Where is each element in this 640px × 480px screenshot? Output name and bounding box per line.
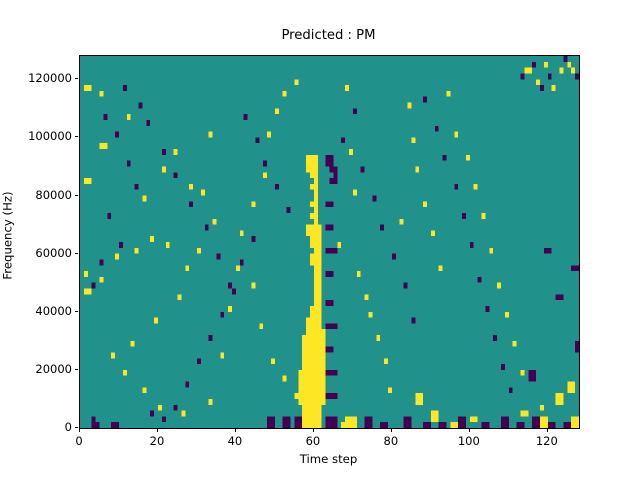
- heatmap-plot-area[interactable]: [79, 55, 580, 429]
- y-tick-label: 40000: [35, 304, 72, 318]
- x-tick-mark: [547, 428, 548, 432]
- page-title: Predicted : PM: [79, 28, 578, 44]
- y-tick-mark: [75, 253, 79, 254]
- x-tick-label: 100: [458, 434, 480, 448]
- y-tick-label: 0: [65, 420, 72, 434]
- y-tick-label: 20000: [35, 362, 72, 376]
- y-tick-label: 100000: [28, 129, 72, 143]
- x-tick-mark: [79, 428, 80, 432]
- heatmap-image: [80, 56, 579, 428]
- x-tick-label: 80: [384, 434, 399, 448]
- x-tick-label: 0: [75, 434, 82, 448]
- x-tick-mark: [235, 428, 236, 432]
- x-tick-label: 60: [306, 434, 321, 448]
- figure-canvas: Predicted : PM 020406080100120 020000400…: [0, 0, 640, 480]
- y-tick-mark: [75, 78, 79, 79]
- x-tick-label: 120: [536, 434, 558, 448]
- x-tick-label: 20: [150, 434, 165, 448]
- y-tick-mark: [75, 369, 79, 370]
- x-tick-mark: [157, 428, 158, 432]
- y-axis-label: Frequency (Hz): [1, 50, 16, 422]
- y-tick-mark: [75, 195, 79, 196]
- x-tick-mark: [313, 428, 314, 432]
- x-axis-label: Time step: [79, 452, 578, 467]
- y-tick-label: 60000: [35, 246, 72, 260]
- x-tick-mark: [469, 428, 470, 432]
- x-tick-label: 40: [228, 434, 243, 448]
- y-tick-mark: [75, 136, 79, 137]
- y-tick-label: 120000: [28, 71, 72, 85]
- y-tick-mark: [75, 311, 79, 312]
- y-tick-mark: [75, 427, 79, 428]
- y-tick-label: 80000: [35, 188, 72, 202]
- x-tick-mark: [391, 428, 392, 432]
